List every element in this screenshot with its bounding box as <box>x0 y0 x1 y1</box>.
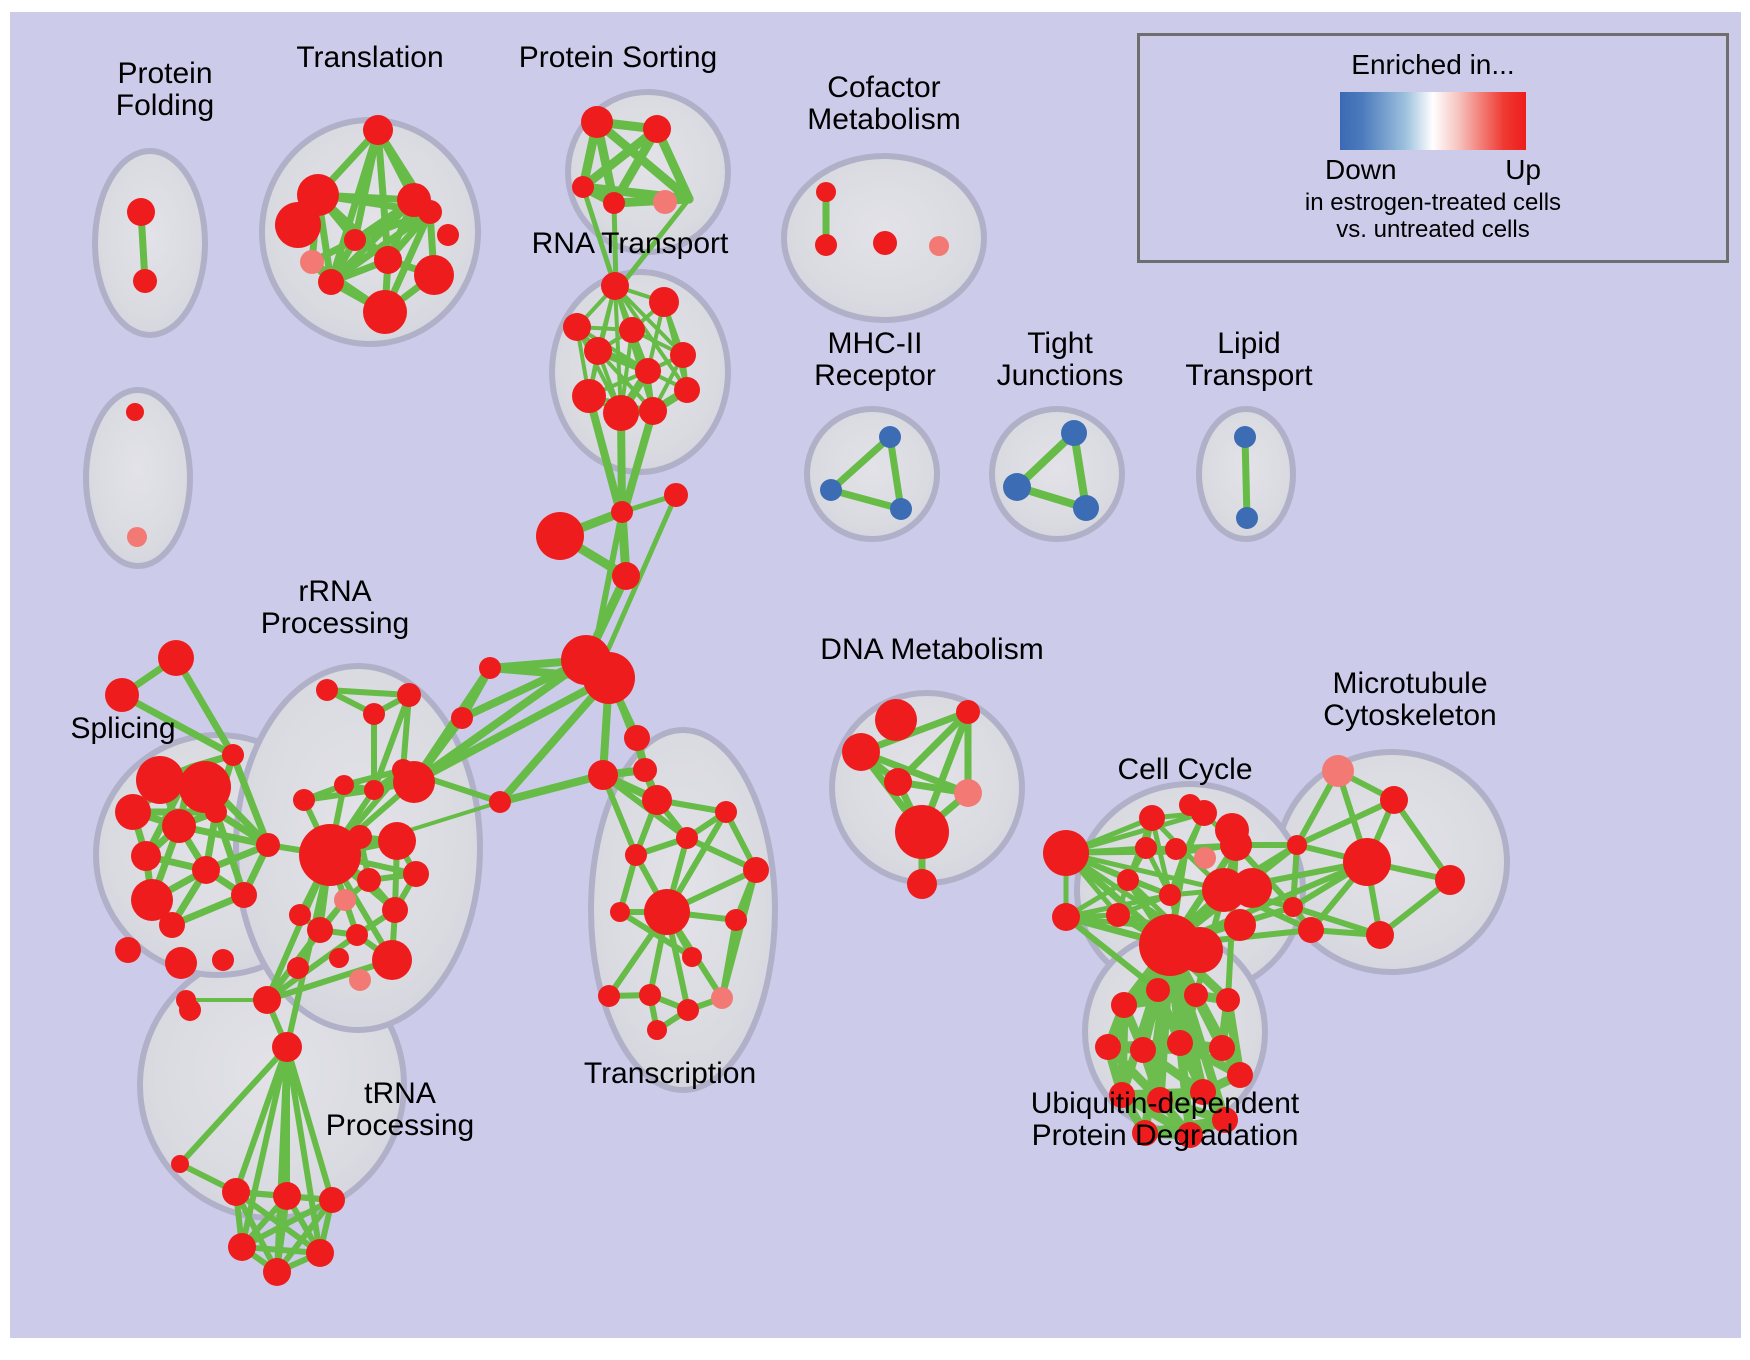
node <box>612 562 640 590</box>
node <box>1216 988 1240 1012</box>
node <box>884 768 912 796</box>
node <box>598 985 620 1007</box>
node <box>653 190 677 214</box>
node <box>253 986 281 1014</box>
node <box>1220 829 1252 861</box>
node <box>588 760 618 790</box>
node <box>875 699 917 741</box>
node <box>418 200 442 224</box>
node <box>319 1187 345 1213</box>
node <box>676 827 698 849</box>
node <box>205 801 227 823</box>
node <box>1212 1107 1238 1133</box>
legend-subtitle: in estrogen-treated cells vs. untreated … <box>1140 190 1726 244</box>
node <box>263 1258 291 1286</box>
node <box>451 707 473 729</box>
node <box>633 758 657 782</box>
node <box>489 791 511 813</box>
node <box>318 269 344 295</box>
node <box>715 801 737 823</box>
node <box>815 234 837 256</box>
node <box>583 652 635 704</box>
node <box>1073 495 1099 521</box>
node <box>397 683 421 707</box>
node <box>956 700 980 724</box>
node <box>115 794 151 830</box>
node <box>1117 869 1139 891</box>
node <box>603 395 639 431</box>
node <box>677 999 699 1021</box>
node <box>1043 830 1089 876</box>
node <box>300 250 324 274</box>
node <box>1111 992 1137 1018</box>
node <box>954 779 982 807</box>
node <box>382 897 408 923</box>
node <box>1191 800 1217 826</box>
node <box>644 889 690 935</box>
node <box>171 1155 189 1173</box>
node <box>619 317 645 343</box>
node <box>348 825 372 849</box>
node <box>374 246 402 274</box>
node <box>1167 1030 1193 1056</box>
node <box>479 657 501 679</box>
node <box>929 236 949 256</box>
node <box>126 403 144 421</box>
node <box>643 115 671 143</box>
node <box>1283 897 1303 917</box>
node <box>674 377 700 403</box>
node <box>372 940 412 980</box>
node <box>581 106 613 138</box>
node <box>842 733 880 771</box>
node <box>364 780 384 800</box>
node <box>1435 865 1465 895</box>
node <box>1130 1037 1156 1063</box>
node <box>176 990 196 1010</box>
node <box>378 822 416 860</box>
node <box>1343 838 1391 886</box>
node <box>1190 1079 1216 1105</box>
node <box>158 640 194 676</box>
node <box>293 789 315 811</box>
node <box>105 678 139 712</box>
node <box>1061 420 1087 446</box>
node <box>1298 917 1324 943</box>
node <box>349 969 371 991</box>
node <box>603 192 625 214</box>
legend-endpoint-labels: Down Up <box>1325 154 1541 186</box>
node <box>273 1182 301 1210</box>
node <box>316 679 338 701</box>
node <box>363 290 407 334</box>
node <box>743 857 769 883</box>
node <box>256 833 280 857</box>
node <box>306 1239 334 1267</box>
node <box>275 202 321 248</box>
legend-subtitle-line1: in estrogen-treated cells <box>1140 190 1726 217</box>
node <box>1184 983 1208 1007</box>
node <box>1095 1034 1121 1060</box>
node <box>212 949 234 971</box>
node <box>1147 1087 1173 1113</box>
node <box>642 785 672 815</box>
node <box>329 948 349 968</box>
node <box>1224 909 1256 941</box>
node <box>127 527 147 547</box>
node <box>115 937 141 963</box>
node <box>639 984 661 1006</box>
node <box>639 397 667 425</box>
node <box>895 805 949 859</box>
node <box>536 512 584 560</box>
node <box>1132 1120 1158 1146</box>
node <box>1366 921 1394 949</box>
node <box>1139 805 1165 831</box>
node <box>222 744 244 766</box>
node <box>272 1032 302 1062</box>
node <box>624 725 650 751</box>
node <box>572 176 594 198</box>
node <box>437 224 459 246</box>
node <box>357 868 381 892</box>
node <box>820 479 842 501</box>
node <box>287 957 309 979</box>
node <box>647 1020 667 1040</box>
node <box>1322 755 1354 787</box>
node <box>664 483 688 507</box>
node <box>907 869 937 899</box>
node <box>192 856 220 884</box>
node <box>873 231 897 255</box>
legend-box: Enriched in... Down Up in estrogen-treat… <box>1137 33 1729 263</box>
node <box>1109 1082 1135 1108</box>
node <box>165 947 197 979</box>
node <box>307 917 333 943</box>
node <box>584 337 612 365</box>
node <box>635 358 661 384</box>
node <box>344 229 366 251</box>
node <box>1135 837 1157 859</box>
node <box>601 272 629 300</box>
node <box>231 882 257 908</box>
legend-title: Enriched in... <box>1140 49 1726 81</box>
node <box>1052 903 1080 931</box>
node <box>363 115 393 145</box>
node <box>127 198 155 226</box>
node <box>133 269 157 293</box>
node <box>1146 978 1170 1002</box>
node <box>611 501 633 523</box>
node <box>228 1233 256 1261</box>
node <box>363 703 385 725</box>
node <box>1194 847 1216 869</box>
node <box>393 761 435 803</box>
node <box>159 912 185 938</box>
node <box>346 924 368 946</box>
node <box>222 1178 250 1206</box>
node <box>1106 903 1130 927</box>
node <box>1287 835 1307 855</box>
node <box>334 889 356 911</box>
node <box>162 809 196 843</box>
legend-low-label: Down <box>1325 154 1397 186</box>
node <box>1003 473 1031 501</box>
legend-subtitle-line2: vs. untreated cells <box>1140 217 1726 244</box>
node <box>682 947 702 967</box>
node <box>649 287 679 317</box>
node <box>1234 426 1256 448</box>
node <box>816 182 836 202</box>
node <box>1232 868 1272 908</box>
node <box>131 841 161 871</box>
node <box>711 987 733 1009</box>
hull-tight-junctions <box>992 409 1122 539</box>
node <box>670 342 696 368</box>
node <box>1159 884 1181 906</box>
hull-protein-folding <box>95 151 205 335</box>
node <box>610 902 630 922</box>
node <box>890 498 912 520</box>
node <box>1236 507 1258 529</box>
node <box>289 904 311 926</box>
node <box>136 756 184 804</box>
node <box>563 313 591 341</box>
node <box>1177 927 1223 973</box>
node <box>725 909 747 931</box>
hull-mhc-ii-receptor <box>807 409 937 539</box>
node <box>1227 1062 1253 1088</box>
legend-color-gradient-bar <box>1340 92 1526 150</box>
node <box>879 426 901 448</box>
node <box>572 379 606 413</box>
node <box>414 255 454 295</box>
node <box>1165 838 1187 860</box>
node <box>1177 1122 1203 1148</box>
legend-high-label: Up <box>1505 154 1541 186</box>
node <box>1380 786 1408 814</box>
node <box>334 775 354 795</box>
node <box>403 861 429 887</box>
enrichment-map-figure: Protein Folding Translation Protein Sort… <box>0 0 1750 1360</box>
node <box>1209 1035 1235 1061</box>
node <box>625 844 647 866</box>
